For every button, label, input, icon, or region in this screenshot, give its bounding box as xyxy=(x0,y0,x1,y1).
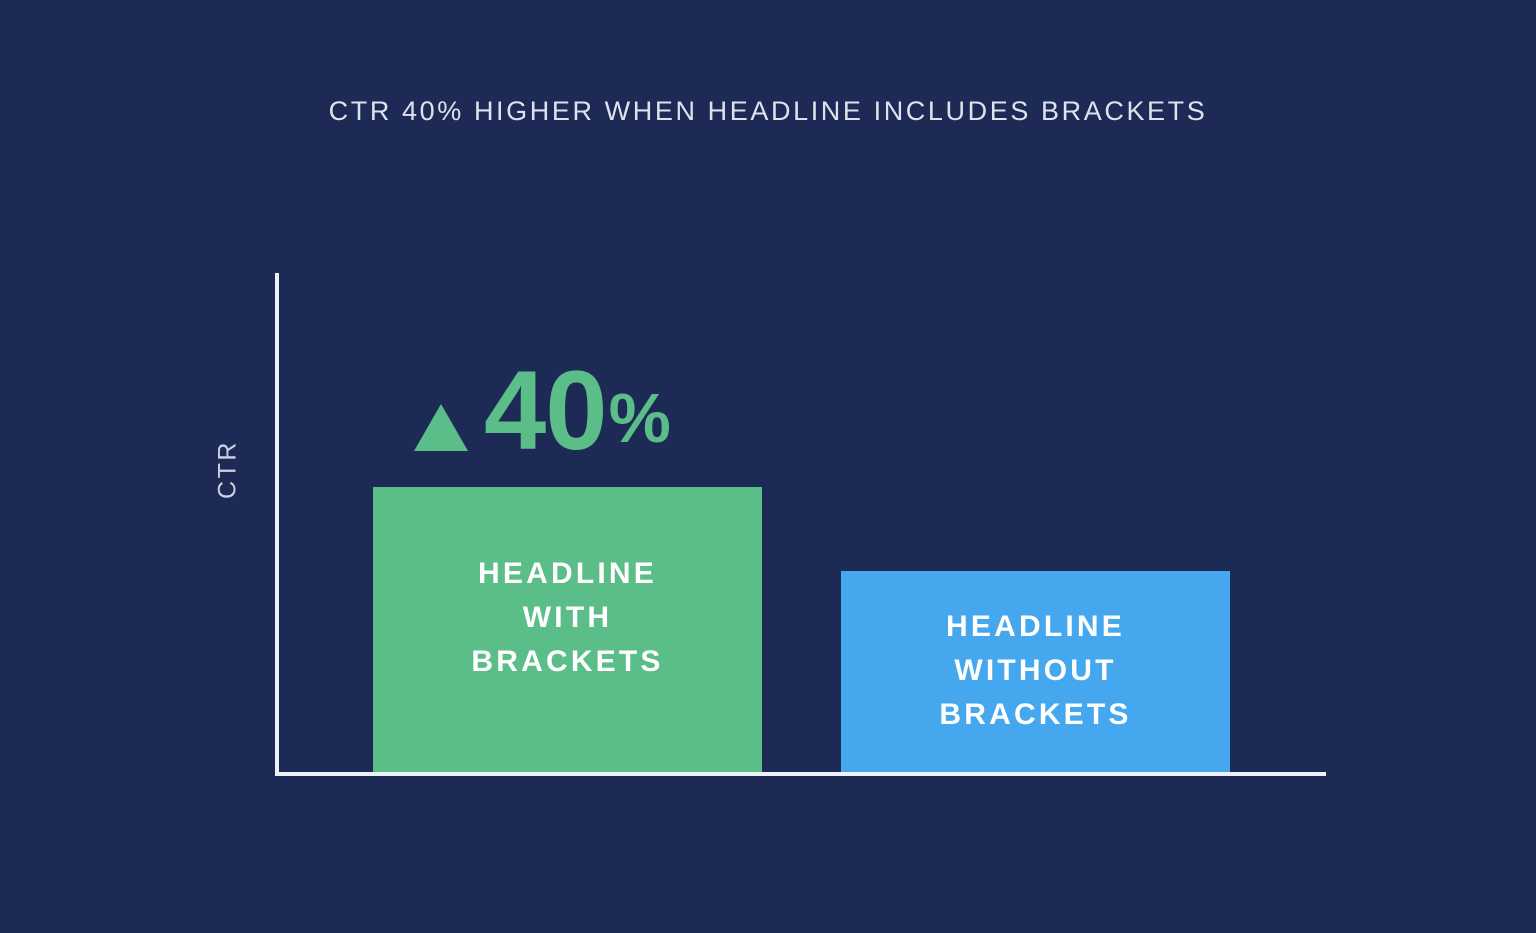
delta-callout: 40 % xyxy=(414,365,671,457)
bar-headline-without-brackets: HEADLINE WITHOUT BRACKETS xyxy=(841,571,1230,772)
y-axis-label: CTR xyxy=(214,410,243,530)
delta-unit: % xyxy=(609,383,671,453)
y-axis-line xyxy=(275,273,279,776)
bar-headline-with-brackets: HEADLINE WITH BRACKETS xyxy=(373,487,762,772)
delta-value: 40 xyxy=(484,365,607,457)
x-axis-line xyxy=(275,772,1326,776)
triangle-up-icon xyxy=(414,404,468,451)
bar-label-without-brackets: HEADLINE WITHOUT BRACKETS xyxy=(939,605,1131,737)
infographic-canvas: CTR 40% HIGHER WHEN HEADLINE INCLUDES BR… xyxy=(0,0,1536,933)
plot-area: CTR HEADLINE WITH BRACKETS HEADLINE WITH… xyxy=(0,0,1536,933)
bar-label-with-brackets: HEADLINE WITH BRACKETS xyxy=(471,552,663,684)
